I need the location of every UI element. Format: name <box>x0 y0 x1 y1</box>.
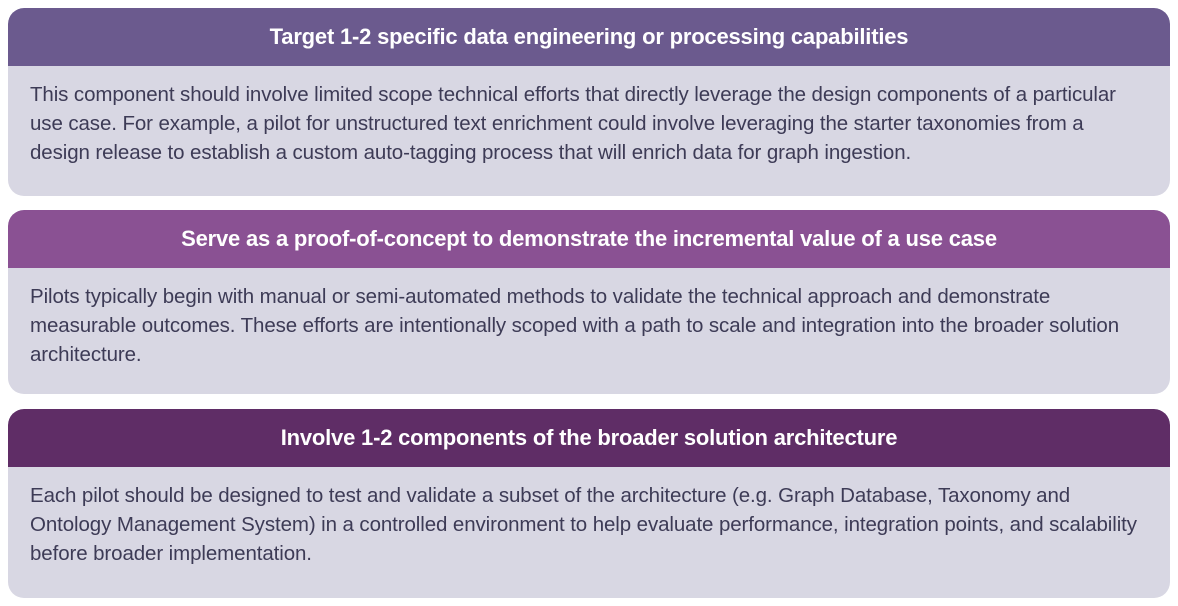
criteria-card-title: Serve as a proof-of-concept to demonstra… <box>181 226 997 251</box>
criteria-card-header: Involve 1-2 components of the broader so… <box>8 409 1170 467</box>
pilot-criteria-card-list: Target 1-2 specific data engineering or … <box>0 0 1178 606</box>
criteria-card-header: Target 1-2 specific data engineering or … <box>8 8 1170 66</box>
criteria-card-body-text: Each pilot should be designed to test an… <box>30 481 1148 568</box>
criteria-card-body-text: Pilots typically begin with manual or se… <box>30 282 1148 369</box>
criteria-card: Involve 1-2 components of the broader so… <box>8 409 1170 598</box>
criteria-card-title: Involve 1-2 components of the broader so… <box>281 425 898 450</box>
criteria-card: Serve as a proof-of-concept to demonstra… <box>8 210 1170 394</box>
criteria-card-body: This component should involve limited sc… <box>8 66 1170 196</box>
criteria-card-body: Each pilot should be designed to test an… <box>8 467 1170 598</box>
criteria-card: Target 1-2 specific data engineering or … <box>8 8 1170 196</box>
criteria-card-body: Pilots typically begin with manual or se… <box>8 268 1170 394</box>
criteria-card-header: Serve as a proof-of-concept to demonstra… <box>8 210 1170 268</box>
criteria-card-body-text: This component should involve limited sc… <box>30 80 1148 167</box>
criteria-card-title: Target 1-2 specific data engineering or … <box>270 24 909 49</box>
